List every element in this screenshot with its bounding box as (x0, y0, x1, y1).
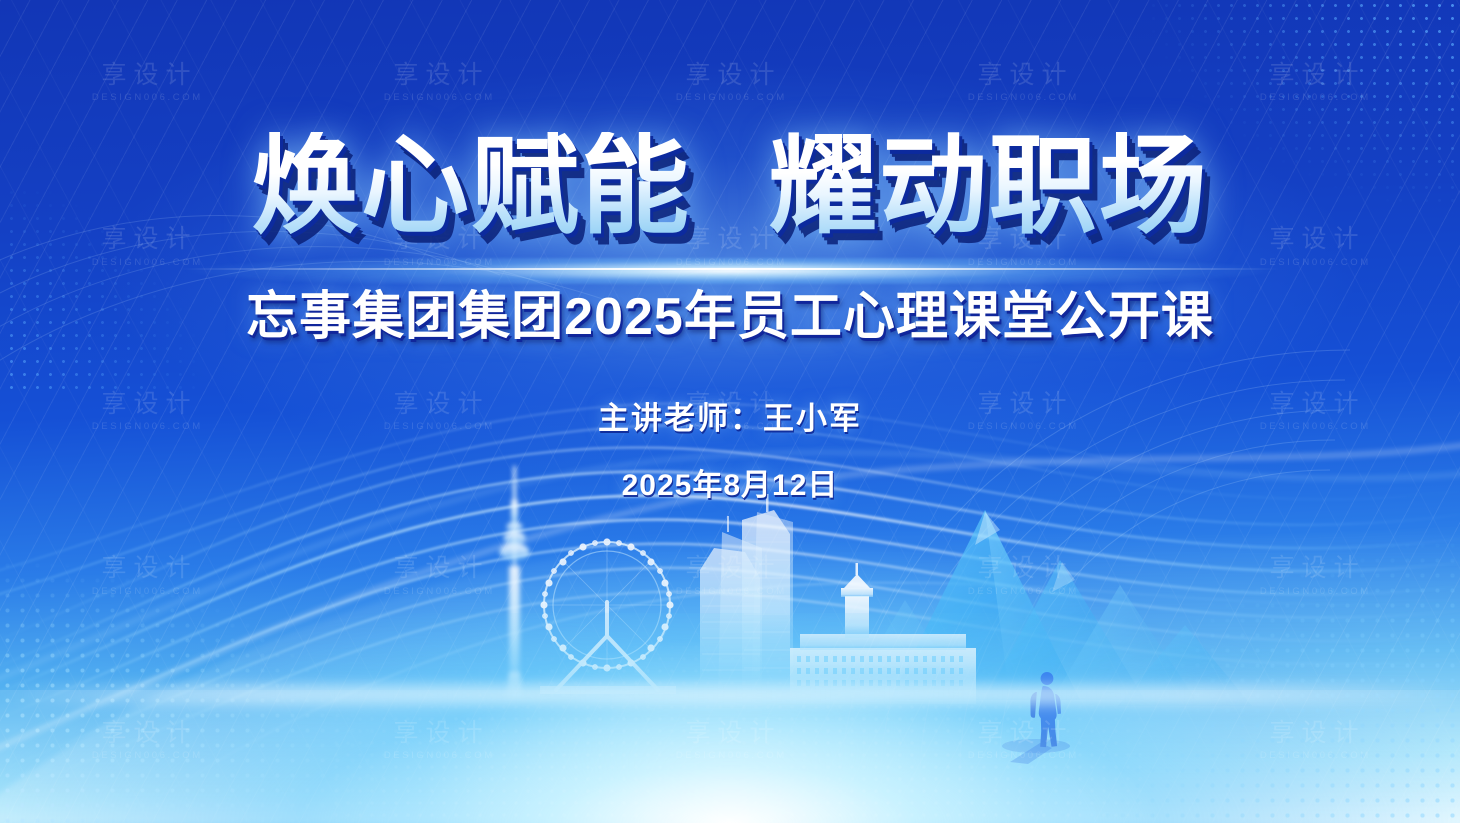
poster-headline: 焕心赋能 耀动职场 (251, 132, 1209, 240)
headline-part-1: 焕心赋能 (251, 132, 691, 240)
poster-speaker: 主讲老师：王小军 (598, 393, 862, 438)
headline-part-2: 耀动职场 (769, 132, 1209, 240)
poster-date: 2025年8月12日 (622, 460, 839, 504)
event-poster: 享设计DESIGN006.COM 享设计DESIGN006.COM 享设计DES… (0, 0, 1460, 823)
poster-subtitle: 忘事集团集团2025年员工心理课堂公开课 (246, 274, 1214, 349)
ribbon-sweep-fill (0, 520, 1460, 823)
